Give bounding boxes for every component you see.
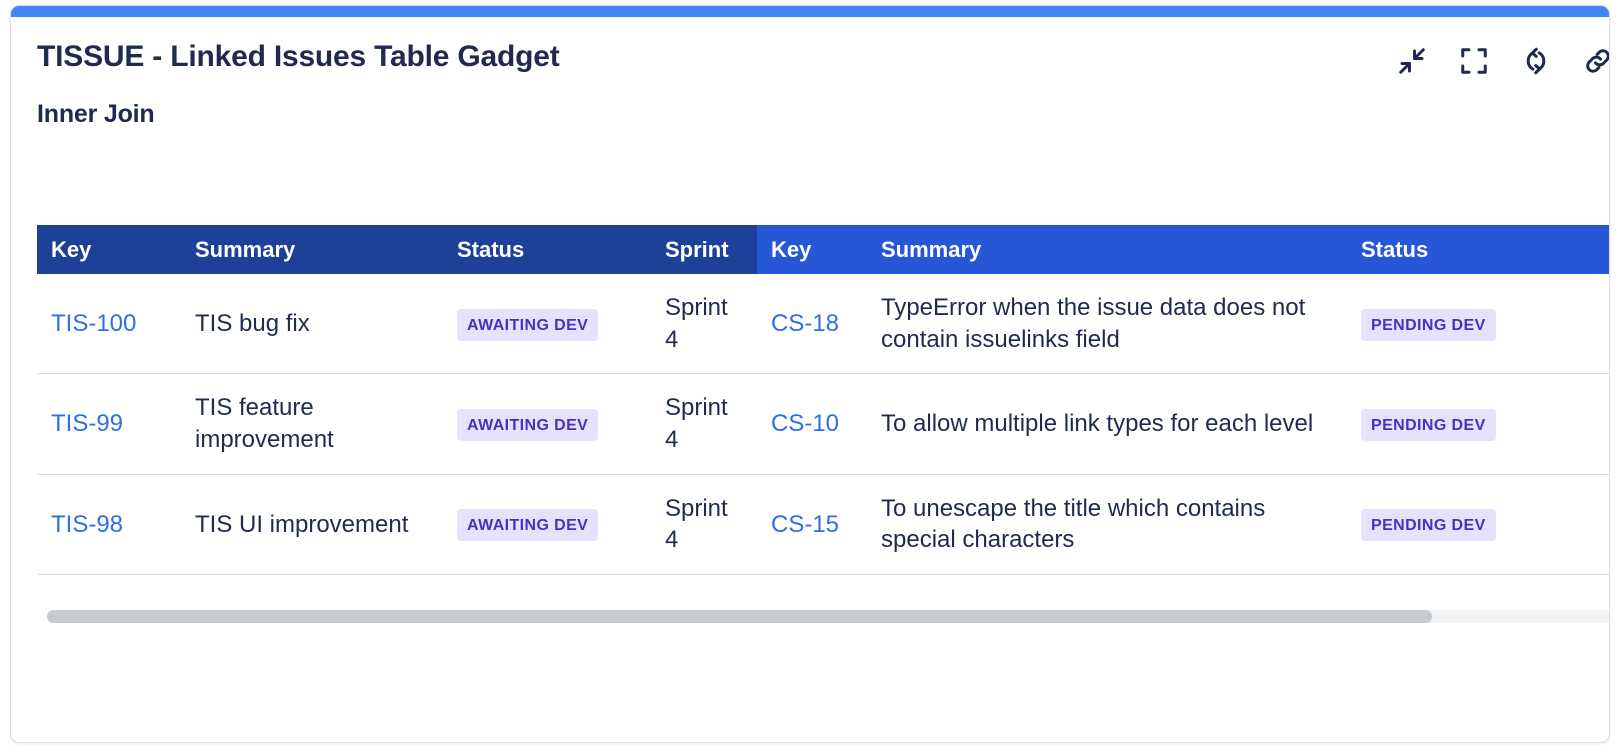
table-scroll-container: Key Summary Status Sprint Key Summary St…	[37, 225, 1610, 625]
table-body: TIS-100 TIS bug fix AWAITING DEV Sprint …	[37, 274, 1610, 575]
cell-key-left: TIS-100	[37, 274, 181, 374]
issue-key-link[interactable]: TIS-98	[51, 511, 123, 538]
issue-key-link[interactable]: CS-18	[771, 310, 839, 337]
status-badge: AWAITING DEV	[457, 509, 598, 541]
table-row: TIS-100 TIS bug fix AWAITING DEV Sprint …	[37, 274, 1610, 374]
cell-status-right: PENDING DEV	[1347, 474, 1610, 574]
refresh-icon[interactable]	[1519, 44, 1553, 78]
column-header-summary-left[interactable]: Summary	[181, 225, 443, 274]
cell-sprint-left: Sprint 4	[651, 474, 757, 574]
cell-sprint-left: Sprint 4	[651, 274, 757, 374]
gadget-header: TISSUE - Linked Issues Table Gadget Inne…	[11, 17, 1609, 128]
page-title: TISSUE - Linked Issues Table Gadget	[37, 40, 1609, 75]
column-header-key-right[interactable]: Key	[757, 225, 867, 274]
horizontal-scrollbar-thumb[interactable]	[47, 610, 1432, 623]
cell-status-left: AWAITING DEV	[443, 374, 651, 474]
cell-summary-left: TIS feature improvement	[181, 374, 443, 474]
table-header: Key Summary Status Sprint Key Summary St…	[37, 225, 1610, 274]
column-header-sprint-left[interactable]: Sprint	[651, 225, 757, 274]
collapse-icon[interactable]	[1395, 44, 1429, 78]
cell-key-right: CS-15	[757, 474, 867, 574]
column-header-summary-right[interactable]: Summary	[867, 225, 1347, 274]
header-actions	[1395, 44, 1610, 78]
cell-summary-left: TIS UI improvement	[181, 474, 443, 574]
cell-key-left: TIS-99	[37, 374, 181, 474]
link-icon[interactable]	[1581, 44, 1610, 78]
table-row: TIS-99 TIS feature improvement AWAITING …	[37, 374, 1610, 474]
cell-summary-right: TypeError when the issue data does not c…	[867, 274, 1347, 374]
status-badge: AWAITING DEV	[457, 309, 598, 341]
cell-summary-right: To unescape the title which contains spe…	[867, 474, 1347, 574]
horizontal-scrollbar[interactable]	[47, 610, 1610, 623]
gadget-card: TISSUE - Linked Issues Table Gadget Inne…	[10, 5, 1610, 743]
column-header-status-left[interactable]: Status	[443, 225, 651, 274]
cell-summary-right: To allow multiple link types for each le…	[867, 374, 1347, 474]
fullscreen-icon[interactable]	[1457, 44, 1491, 78]
linked-issues-table: Key Summary Status Sprint Key Summary St…	[37, 225, 1610, 575]
cell-status-left: AWAITING DEV	[443, 474, 651, 574]
cell-status-right: PENDING DEV	[1347, 374, 1610, 474]
cell-sprint-left: Sprint 4	[651, 374, 757, 474]
gadget-subtitle: Inner Join	[37, 100, 1609, 129]
status-badge: AWAITING DEV	[457, 409, 598, 441]
status-badge: PENDING DEV	[1361, 309, 1496, 341]
issue-key-link[interactable]: TIS-99	[51, 410, 123, 437]
cell-key-right: CS-10	[757, 374, 867, 474]
cell-status-right: PENDING DEV	[1347, 274, 1610, 374]
cell-summary-left: TIS bug fix	[181, 274, 443, 374]
column-header-status-right[interactable]: Status	[1347, 225, 1610, 274]
status-badge: PENDING DEV	[1361, 409, 1496, 441]
table-header-row: Key Summary Status Sprint Key Summary St…	[37, 225, 1610, 274]
cell-key-left: TIS-98	[37, 474, 181, 574]
table-row: TIS-98 TIS UI improvement AWAITING DEV S…	[37, 474, 1610, 574]
cell-status-left: AWAITING DEV	[443, 274, 651, 374]
cell-key-right: CS-18	[757, 274, 867, 374]
status-badge: PENDING DEV	[1361, 509, 1496, 541]
column-header-key-left[interactable]: Key	[37, 225, 181, 274]
accent-bar	[11, 6, 1609, 17]
issue-key-link[interactable]: TIS-100	[51, 310, 136, 337]
issue-key-link[interactable]: CS-10	[771, 410, 839, 437]
issue-key-link[interactable]: CS-15	[771, 511, 839, 538]
